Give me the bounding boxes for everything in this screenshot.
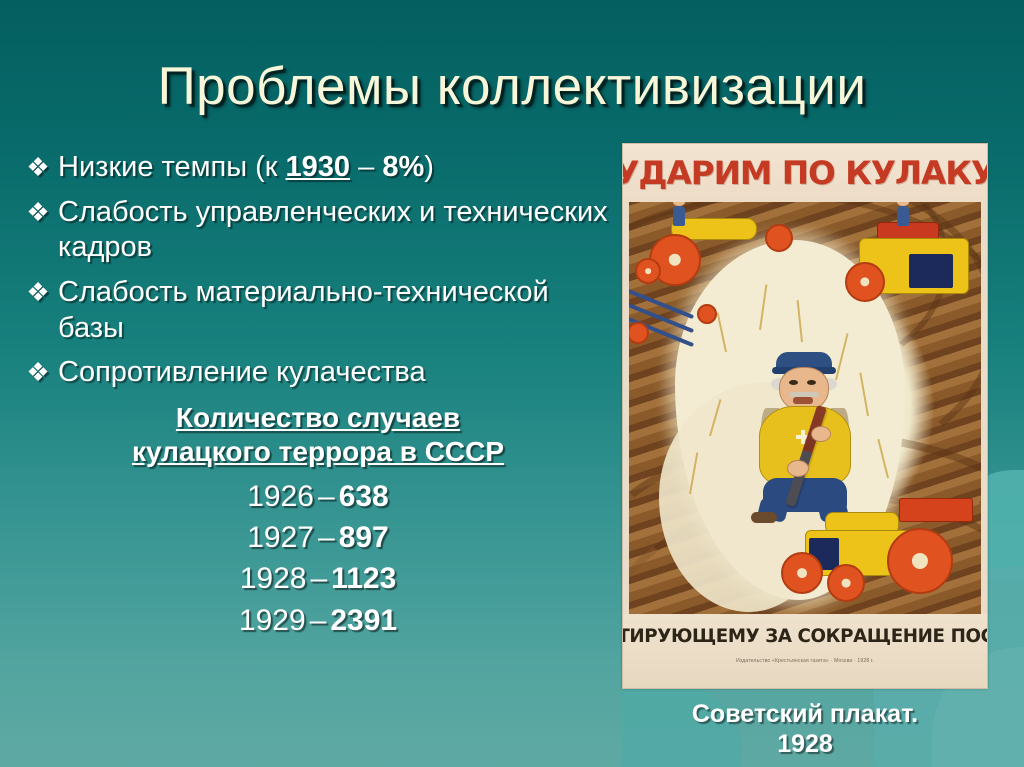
statistics-heading-line2: кулацкого террора в СССР bbox=[132, 436, 504, 467]
stat-year: 1929 bbox=[239, 604, 306, 637]
tractor-driver bbox=[897, 206, 909, 226]
stat-year: 1928 bbox=[240, 562, 307, 595]
kulak-hand-left bbox=[787, 460, 809, 477]
tractor-wheel bbox=[635, 258, 661, 284]
plow-disc bbox=[697, 304, 717, 324]
poster-caption: Советский плакат. 1928 bbox=[622, 700, 988, 759]
poster-caption-line1: Советский плакат. bbox=[692, 700, 918, 728]
tractor-window bbox=[909, 254, 953, 288]
stat-value: 638 bbox=[339, 480, 389, 513]
poster-inner: УДАРИМ ПО КУЛАКУ bbox=[623, 144, 987, 688]
table-row: 1929–2391 bbox=[18, 600, 618, 641]
stat-year: 1927 bbox=[247, 521, 314, 554]
stat-value: 897 bbox=[339, 521, 389, 554]
bullet-list: ❖ Низкие темпы (к 1930 – 8%) ❖ Слабость … bbox=[18, 150, 618, 641]
poster-footline-band: АГИТИРУЮЩЕМУ ЗА СОКРАЩЕНИЕ ПОСЕВА Издате… bbox=[623, 614, 987, 688]
list-item: ❖ Сопротивление кулачества bbox=[18, 355, 618, 391]
slide: Проблемы коллективизации ❖ Низкие темпы … bbox=[0, 0, 1024, 767]
kulak-eye-left bbox=[789, 380, 798, 385]
tractor-driver bbox=[673, 206, 685, 226]
tractor-wheel bbox=[827, 564, 865, 602]
statistics-rows: 1926–638 1927–897 1928–1123 1929–2391 bbox=[18, 476, 618, 640]
poster-caption-line2: 1928 bbox=[777, 730, 833, 758]
soviet-poster-image: УДАРИМ ПО КУЛАКУ bbox=[622, 143, 988, 689]
kulak-figure bbox=[739, 352, 869, 522]
stat-dash: – bbox=[306, 604, 331, 637]
list-item: ❖ Слабость материально-технической базы bbox=[18, 275, 618, 346]
stat-year: 1926 bbox=[247, 480, 314, 513]
bullet-text-2: Слабость управленческих и технических ка… bbox=[58, 195, 618, 266]
poster-footline-text: АГИТИРУЮЩЕМУ ЗА СОКРАЩЕНИЕ ПОСЕВА bbox=[622, 625, 988, 647]
poster-fine-print: Издательство «Крестьянская газета» · Мос… bbox=[736, 658, 874, 664]
diamond-cluster-bullet-icon: ❖ bbox=[18, 197, 58, 229]
list-item: ❖ Низкие темпы (к 1930 – 8%) bbox=[18, 150, 618, 186]
statistics-heading: Количество случаев кулацкого террора в С… bbox=[18, 401, 618, 469]
diamond-cluster-bullet-icon: ❖ bbox=[18, 357, 58, 389]
table-row: 1927–897 bbox=[18, 517, 618, 558]
red-seeder-cart bbox=[899, 498, 973, 522]
tractor-top-left bbox=[637, 210, 767, 286]
tractor-top-right bbox=[839, 220, 979, 324]
kulak-mouth bbox=[793, 397, 813, 404]
poster-headline-text: УДАРИМ ПО КУЛАКУ bbox=[622, 154, 988, 192]
kulak-eye-right bbox=[807, 380, 816, 385]
bullet-text-3: Слабость материально-технической базы bbox=[58, 275, 618, 346]
poster-artwork bbox=[629, 202, 981, 614]
tractor-wheel bbox=[845, 262, 885, 302]
plow-disc bbox=[765, 224, 793, 252]
bullet-text-4: Сопротивление кулачества bbox=[58, 355, 618, 391]
page-title: Проблемы коллективизации bbox=[0, 56, 1024, 117]
statistics-heading-line1: Количество случаев bbox=[176, 402, 460, 433]
plow-arm bbox=[629, 286, 694, 319]
kulak-hand-right bbox=[811, 426, 831, 442]
diamond-cluster-bullet-icon: ❖ bbox=[18, 152, 58, 184]
stat-value: 2391 bbox=[330, 604, 397, 637]
stat-dash: – bbox=[314, 480, 339, 513]
statistics-block: Количество случаев кулацкого террора в С… bbox=[18, 401, 618, 641]
stat-dash: – bbox=[314, 521, 339, 554]
table-row: 1928–1123 bbox=[18, 558, 618, 599]
kulak-boot-left bbox=[751, 512, 777, 523]
stat-dash: – bbox=[306, 562, 331, 595]
tractor-wheel bbox=[887, 528, 953, 594]
tractor-bottom bbox=[779, 502, 969, 610]
bullet-text-1: Низкие темпы (к 1930 – 8%) bbox=[58, 150, 618, 186]
diamond-cluster-bullet-icon: ❖ bbox=[18, 277, 58, 309]
list-item: ❖ Слабость управленческих и технических … bbox=[18, 195, 618, 266]
poster-headline-band: УДАРИМ ПО КУЛАКУ bbox=[623, 144, 987, 202]
table-row: 1926–638 bbox=[18, 476, 618, 517]
tractor-wheel bbox=[781, 552, 823, 594]
stat-value: 1123 bbox=[331, 562, 396, 595]
